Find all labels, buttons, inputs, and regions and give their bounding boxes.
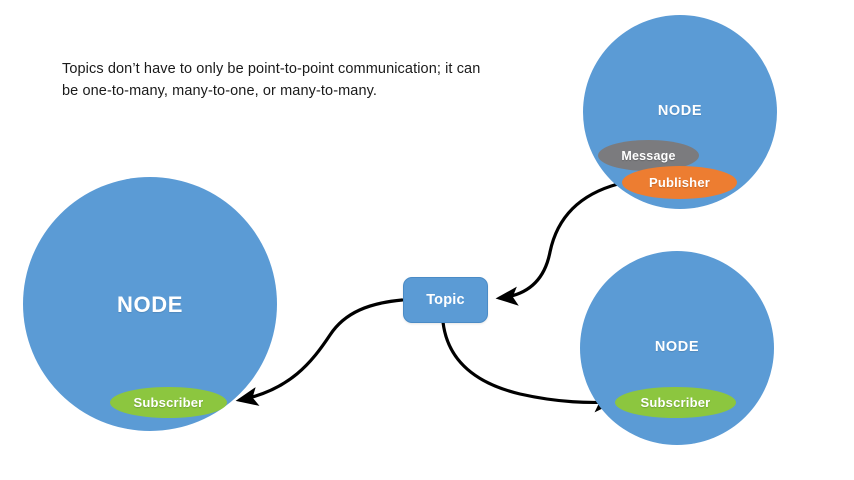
diagram-canvas: Topics don’t have to only be point-to-po… — [0, 0, 854, 480]
node-subscriber-left-label: NODE — [23, 292, 277, 318]
edge-publisher-to-topic — [500, 184, 618, 298]
publisher-pill[interactable]: Publisher — [622, 166, 737, 199]
node-publisher-label: NODE — [583, 103, 777, 119]
subscriber-pill-right[interactable]: Subscriber — [615, 387, 736, 418]
subscriber-pill-left[interactable]: Subscriber — [110, 387, 227, 418]
topic-box[interactable]: Topic — [403, 277, 488, 323]
node-subscriber-right-label: NODE — [580, 339, 774, 355]
caption-text: Topics don’t have to only be point-to-po… — [62, 58, 482, 103]
